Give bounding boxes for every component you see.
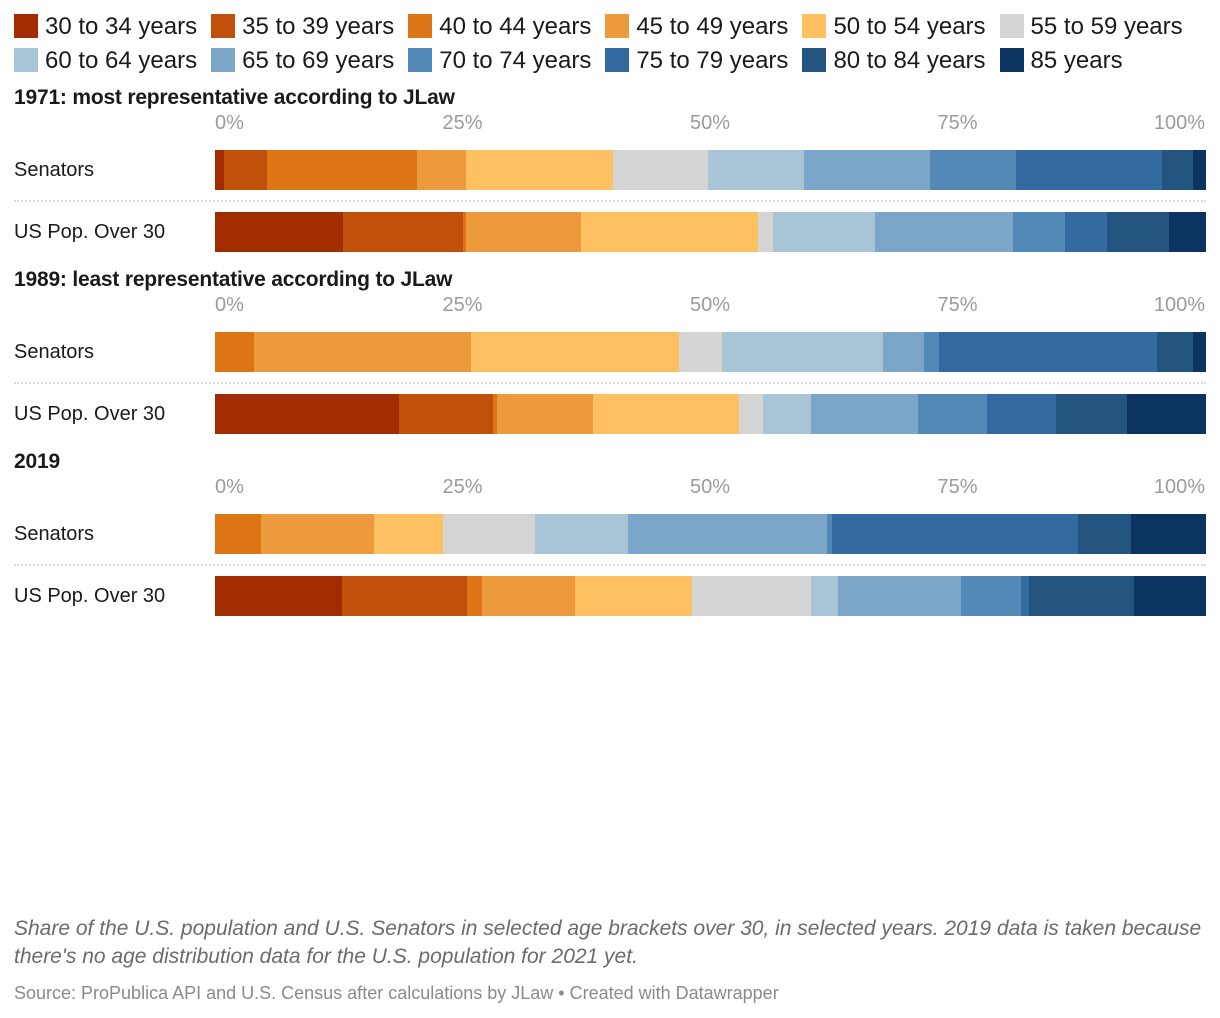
legend-item-label: 50 to 54 years — [833, 13, 985, 40]
row-label: Senators — [14, 523, 215, 546]
bar-segment[interactable] — [343, 212, 463, 252]
bar-segment[interactable] — [613, 150, 708, 190]
bar-segment[interactable] — [939, 332, 1157, 372]
chart-footer: Share of the U.S. population and U.S. Se… — [14, 915, 1206, 1004]
panel-rows: SenatorsUS Pop. Over 30 — [14, 324, 1206, 442]
row-divider — [14, 200, 1206, 202]
bar-segment[interactable] — [1134, 576, 1206, 616]
axis-tick-label: 100% — [1154, 476, 1205, 499]
stacked-bar — [215, 332, 1206, 372]
bar-segment[interactable] — [838, 576, 961, 616]
bar-segment[interactable] — [1127, 394, 1206, 434]
stacked-bar — [215, 576, 1206, 616]
legend-swatch-icon — [14, 48, 38, 72]
bar-segment[interactable] — [1013, 212, 1065, 252]
chart-panel: 1971: most representative according to J… — [14, 86, 1206, 260]
bar-segment[interactable] — [417, 150, 466, 190]
bar-segment[interactable] — [1193, 332, 1206, 372]
axis-tick-label: 75% — [937, 294, 977, 317]
row-label: Senators — [14, 341, 215, 364]
bar-segment[interactable] — [1162, 150, 1192, 190]
legend-item-label: 30 to 34 years — [45, 13, 197, 40]
row-label: US Pop. Over 30 — [14, 585, 215, 608]
bar-segment[interactable] — [832, 514, 1077, 554]
legend-item[interactable]: 45 to 49 years — [605, 13, 788, 40]
legend-item-label: 60 to 64 years — [45, 47, 197, 74]
bar-segment[interactable] — [593, 394, 740, 434]
row-divider — [14, 564, 1206, 566]
bar-segment[interactable] — [811, 576, 838, 616]
axis-tick-label: 50% — [690, 112, 730, 135]
axis-tick-label: 50% — [690, 294, 730, 317]
legend-item[interactable]: 75 to 79 years — [605, 47, 788, 74]
bar-segment[interactable] — [763, 394, 811, 434]
legend-swatch-icon — [211, 14, 235, 38]
axis-tick-label: 0% — [215, 112, 244, 135]
chart-row: Senators — [14, 142, 1206, 198]
x-axis: 0%25%50%75%100% — [215, 112, 1205, 142]
chart-row: US Pop. Over 30 — [14, 568, 1206, 624]
axis-tick-label: 75% — [937, 476, 977, 499]
chart-row: US Pop. Over 30 — [14, 204, 1206, 260]
bar-segment[interactable] — [215, 332, 254, 372]
legend-item[interactable]: 70 to 74 years — [408, 47, 591, 74]
legend-swatch-icon — [1000, 14, 1024, 38]
bar-segment[interactable] — [466, 212, 581, 252]
bar-segment[interactable] — [679, 332, 722, 372]
bar-segment[interactable] — [1065, 212, 1107, 252]
legend-item[interactable]: 80 to 84 years — [802, 47, 985, 74]
bar-segment[interactable] — [374, 514, 443, 554]
panel-title: 1971: most representative according to J… — [14, 86, 1206, 110]
bar-segment[interactable] — [918, 394, 987, 434]
bar-segment[interactable] — [215, 576, 342, 616]
bar-segment[interactable] — [692, 576, 811, 616]
chart-panel: 20190%25%50%75%100%SenatorsUS Pop. Over … — [14, 450, 1206, 624]
bar-segment[interactable] — [267, 150, 417, 190]
legend-item[interactable]: 30 to 34 years — [14, 13, 197, 40]
chart-note: Share of the U.S. population and U.S. Se… — [14, 915, 1206, 971]
bar-segment[interactable] — [471, 332, 679, 372]
legend-item-label: 35 to 39 years — [242, 13, 394, 40]
chart-panel: 1989: least representative according to … — [14, 268, 1206, 442]
legend-swatch-icon — [802, 48, 826, 72]
row-divider — [14, 382, 1206, 384]
legend-item[interactable]: 50 to 54 years — [802, 13, 985, 40]
bar-segment[interactable] — [1021, 576, 1029, 616]
axis-tick-label: 0% — [215, 294, 244, 317]
bar-segment[interactable] — [535, 514, 628, 554]
legend-swatch-icon — [1000, 48, 1024, 72]
bar-segment[interactable] — [215, 394, 399, 434]
axis-tick-label: 25% — [442, 112, 482, 135]
bar-segment[interactable] — [254, 332, 471, 372]
legend-item[interactable]: 35 to 39 years — [211, 13, 394, 40]
axis-tick-label: 25% — [442, 294, 482, 317]
bar-segment[interactable] — [1107, 212, 1169, 252]
bar-segment[interactable] — [804, 150, 929, 190]
axis-tick-label: 100% — [1154, 112, 1205, 135]
legend-item-label: 45 to 49 years — [636, 13, 788, 40]
legend-swatch-icon — [802, 14, 826, 38]
bar-segment[interactable] — [467, 576, 482, 616]
legend-item-label: 70 to 74 years — [439, 47, 591, 74]
legend-item-label: 55 to 59 years — [1031, 13, 1183, 40]
chart-row: US Pop. Over 30 — [14, 386, 1206, 442]
bar-segment[interactable] — [773, 212, 875, 252]
chart-page: 30 to 34 years35 to 39 years40 to 44 yea… — [0, 0, 1220, 1018]
bar-segment[interactable] — [708, 150, 804, 190]
legend-swatch-icon — [605, 48, 629, 72]
bar-segment[interactable] — [261, 514, 374, 554]
bar-segment[interactable] — [758, 212, 773, 252]
stacked-bar — [215, 514, 1206, 554]
bar-segment[interactable] — [466, 150, 613, 190]
x-axis: 0%25%50%75%100% — [215, 294, 1205, 324]
bar-segment[interactable] — [961, 576, 1020, 616]
legend-swatch-icon — [14, 14, 38, 38]
bar-segment[interactable] — [930, 150, 1016, 190]
bar-segment[interactable] — [1078, 514, 1132, 554]
legend-swatch-icon — [211, 48, 235, 72]
legend-item[interactable]: 85 years — [1000, 47, 1123, 74]
legend-item-label: 80 to 84 years — [833, 47, 985, 74]
legend-item-label: 75 to 79 years — [636, 47, 788, 74]
bar-segment[interactable] — [628, 514, 826, 554]
bar-segment[interactable] — [1157, 332, 1193, 372]
bar-segment[interactable] — [1056, 394, 1127, 434]
legend-item[interactable]: 65 to 69 years — [211, 47, 394, 74]
legend-item-label: 65 to 69 years — [242, 47, 394, 74]
bar-segment[interactable] — [215, 150, 224, 190]
bar-segment[interactable] — [1131, 514, 1206, 554]
axis-tick-label: 100% — [1154, 294, 1205, 317]
panel-rows: SenatorsUS Pop. Over 30 — [14, 142, 1206, 260]
bar-segment[interactable] — [722, 332, 883, 372]
bar-segment[interactable] — [497, 394, 593, 434]
bar-segment[interactable] — [987, 394, 1056, 434]
legend-item-label: 85 years — [1031, 47, 1123, 74]
x-axis: 0%25%50%75%100% — [215, 476, 1205, 506]
legend-swatch-icon — [605, 14, 629, 38]
chart-row: Senators — [14, 506, 1206, 562]
legend-swatch-icon — [408, 14, 432, 38]
bar-segment[interactable] — [443, 514, 535, 554]
panel-rows: SenatorsUS Pop. Over 30 — [14, 506, 1206, 624]
legend-item[interactable]: 55 to 59 years — [1000, 13, 1183, 40]
bar-segment[interactable] — [215, 212, 343, 252]
bar-segment[interactable] — [581, 212, 758, 252]
panel-title: 1989: least representative according to … — [14, 268, 1206, 292]
stacked-bar — [215, 212, 1206, 252]
bar-segment[interactable] — [215, 514, 261, 554]
row-label: US Pop. Over 30 — [14, 221, 215, 244]
bar-segment[interactable] — [1016, 150, 1162, 190]
bar-segment[interactable] — [224, 150, 268, 190]
stacked-bar — [215, 150, 1206, 190]
bar-segment[interactable] — [924, 332, 939, 372]
bar-segment[interactable] — [342, 576, 467, 616]
bar-segment[interactable] — [482, 576, 575, 616]
legend-item[interactable]: 60 to 64 years — [14, 47, 197, 74]
chart-source: Source: ProPublica API and U.S. Census a… — [14, 983, 1206, 1004]
row-label: US Pop. Over 30 — [14, 403, 215, 426]
legend-swatch-icon — [408, 48, 432, 72]
axis-tick-label: 0% — [215, 476, 244, 499]
legend-item[interactable]: 40 to 44 years — [408, 13, 591, 40]
axis-tick-label: 25% — [442, 476, 482, 499]
stacked-bar — [215, 394, 1206, 434]
bar-segment[interactable] — [1169, 212, 1206, 252]
axis-tick-label: 75% — [937, 112, 977, 135]
bar-segment[interactable] — [739, 394, 763, 434]
bar-segment[interactable] — [1029, 576, 1134, 616]
bar-segment[interactable] — [883, 332, 923, 372]
bar-segment[interactable] — [399, 394, 494, 434]
chart-row: Senators — [14, 324, 1206, 380]
bar-segment[interactable] — [575, 576, 693, 616]
legend-item-label: 40 to 44 years — [439, 13, 591, 40]
bar-segment[interactable] — [875, 212, 1013, 252]
row-label: Senators — [14, 159, 215, 182]
bar-segment[interactable] — [811, 394, 918, 434]
bar-segment[interactable] — [1193, 150, 1206, 190]
chart-legend: 30 to 34 years35 to 39 years40 to 44 yea… — [14, 0, 1206, 78]
panel-title: 2019 — [14, 450, 1206, 474]
axis-tick-label: 50% — [690, 476, 730, 499]
chart-panels: 1971: most representative according to J… — [14, 86, 1206, 624]
